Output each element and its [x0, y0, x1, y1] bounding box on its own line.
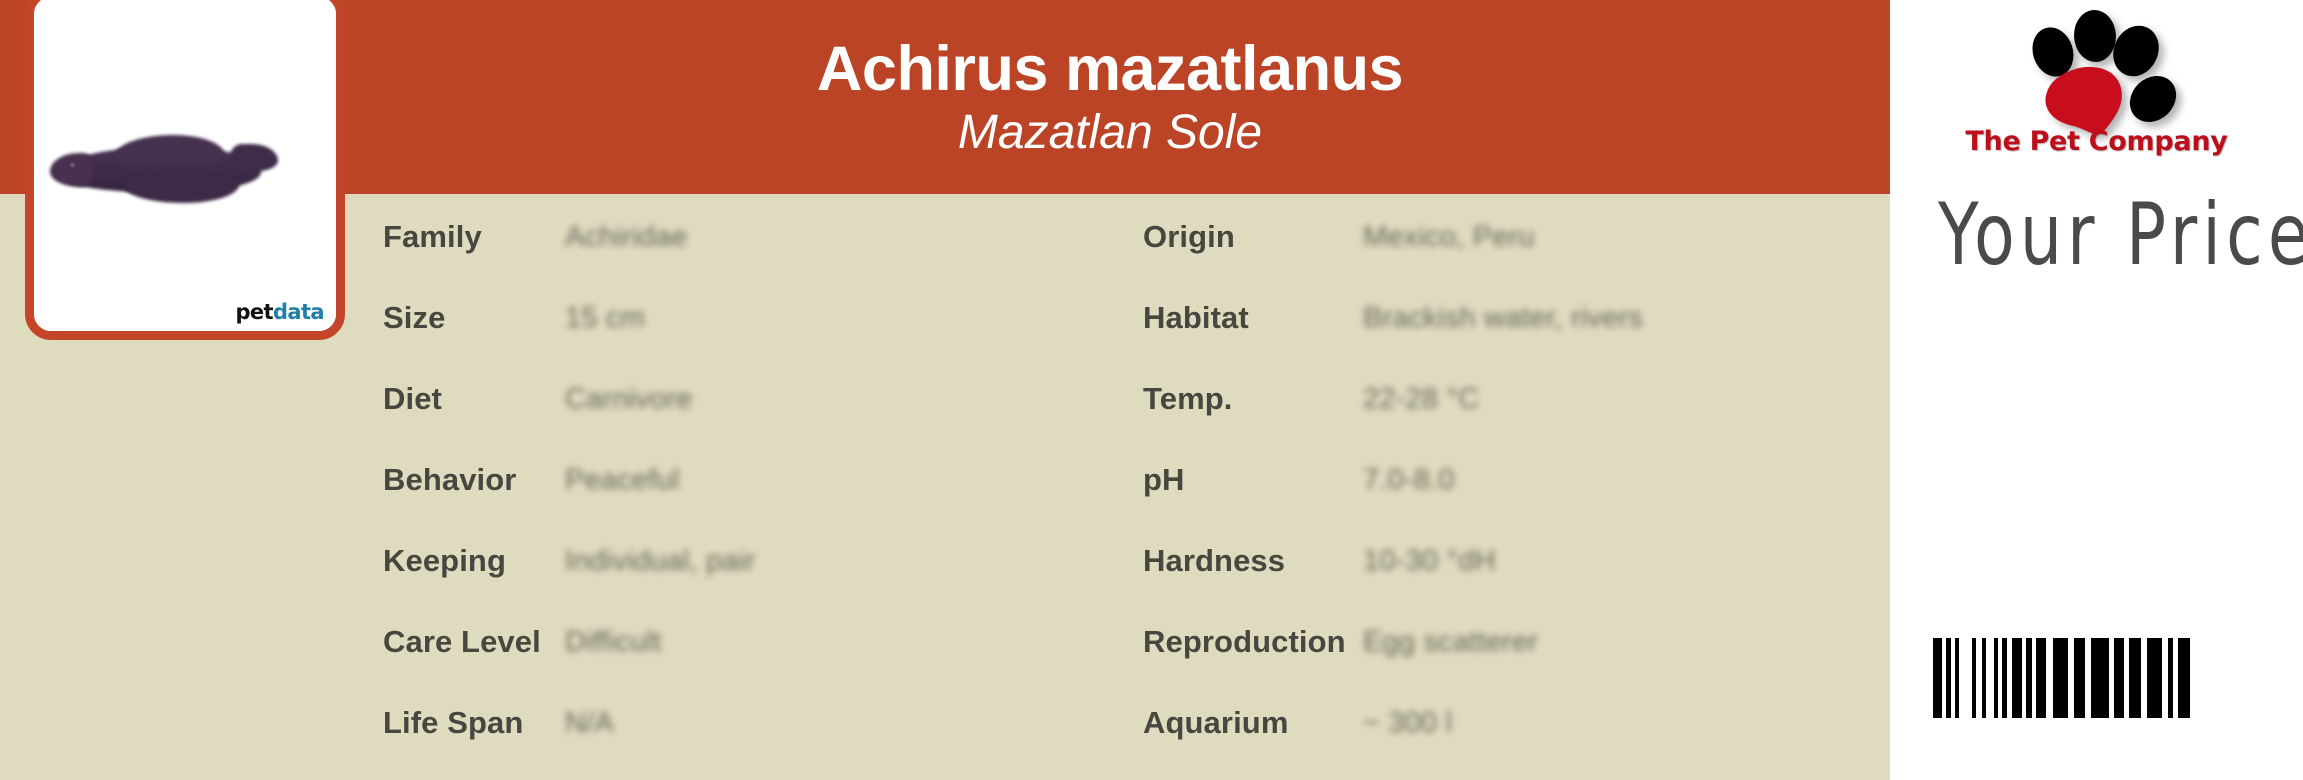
species-spec-grid: Family Achiridae Size 15 cm Diet Carnivo…	[0, 194, 1890, 780]
spec-label-ph: pH	[1143, 462, 1363, 498]
spec-row-reproduction: Reproduction Egg scatterer	[1143, 601, 1538, 683]
spec-value-size: 15 cm	[565, 302, 645, 335]
species-info-panel: Achirus mazatlanus Mazatlan Sole petdata	[0, 0, 1890, 780]
spec-value-diet: Carnivore	[565, 383, 693, 416]
spec-row-family: Family Achiridae	[383, 196, 688, 278]
barcode-space	[1986, 638, 1994, 718]
fish-head-shape	[50, 153, 94, 187]
barcode-bar	[2053, 638, 2068, 718]
spec-label-hardness: Hardness	[1143, 543, 1363, 579]
spec-label-aquarium: Aquarium	[1143, 705, 1363, 741]
your-price-label: Your Price	[1938, 192, 2299, 278]
barcode-bar	[2178, 638, 2190, 718]
spec-row-diet: Diet Carnivore	[383, 358, 693, 440]
spec-row-aquarium: Aquarium ~ 300 l	[1143, 682, 1452, 764]
spec-label-temp: Temp.	[1143, 381, 1363, 417]
barcode	[1933, 638, 2190, 718]
spec-value-ph: 7.0-8.0	[1363, 464, 1455, 497]
pet-species-price-label: Achirus mazatlanus Mazatlan Sole petdata	[0, 0, 2303, 780]
fish-tail-shape	[230, 144, 278, 172]
barcode-space	[2046, 638, 2053, 718]
spec-row-temp: Temp. 22-28 °C	[1143, 358, 1479, 440]
fish-dorsal-shape	[114, 135, 224, 165]
spec-row-life-span: Life Span N/A	[383, 682, 614, 764]
spec-value-temp: 22-28 °C	[1363, 383, 1479, 416]
barcode-bar	[2074, 638, 2085, 718]
spec-value-family: Achiridae	[565, 221, 688, 254]
barcode-bar	[2129, 638, 2141, 718]
spec-row-origin: Origin Mexico, Peru	[1143, 196, 1535, 278]
spec-label-care-level: Care Level	[383, 624, 565, 660]
barcode-bar	[2091, 638, 2109, 718]
spec-value-reproduction: Egg scatterer	[1363, 626, 1538, 659]
brand-name-text: The Pet Company	[1947, 128, 2247, 155]
spec-row-keeping: Keeping Individual, pair	[383, 520, 755, 602]
spec-row-hardness: Hardness 10-30 °dH	[1143, 520, 1496, 602]
barcode-bar	[2012, 638, 2022, 718]
barcode-space	[1959, 638, 1972, 718]
spec-row-care-level: Care Level Difficult	[383, 601, 661, 683]
species-scientific-name: Achirus mazatlanus	[817, 38, 1403, 101]
spec-value-aquarium: ~ 300 l	[1363, 707, 1452, 740]
spec-label-life-span: Life Span	[383, 705, 565, 741]
spec-label-family: Family	[383, 219, 565, 255]
spec-label-diet: Diet	[383, 381, 565, 417]
spec-value-behavior: Peaceful	[565, 464, 679, 497]
spec-label-behavior: Behavior	[383, 462, 565, 498]
brand-logo: The Pet Company	[1947, 8, 2247, 198]
spec-value-habitat: Brackish water, rivers	[1363, 302, 1643, 335]
spec-label-habitat: Habitat	[1143, 300, 1363, 336]
spec-row-habitat: Habitat Brackish water, rivers	[1143, 277, 1643, 359]
barcode-bar	[2147, 638, 2162, 718]
spec-value-life-span: N/A	[565, 707, 614, 740]
spec-value-hardness: 10-30 °dH	[1363, 545, 1496, 578]
spec-row-ph: pH 7.0-8.0	[1143, 439, 1455, 521]
spec-column-right: Origin Mexico, Peru Habitat Brackish wat…	[1143, 194, 1883, 780]
spec-row-size: Size 15 cm	[383, 277, 645, 359]
header-title-block: Achirus mazatlanus Mazatlan Sole	[330, 0, 1890, 194]
spec-value-care-level: Difficult	[565, 626, 661, 659]
spec-label-origin: Origin	[1143, 219, 1363, 255]
spec-value-origin: Mexico, Peru	[1363, 221, 1535, 254]
spec-label-size: Size	[383, 300, 565, 336]
spec-label-reproduction: Reproduction	[1143, 624, 1363, 660]
spec-label-keeping: Keeping	[383, 543, 565, 579]
barcode-bar	[2036, 638, 2046, 718]
spec-value-keeping: Individual, pair	[565, 545, 755, 578]
fish-eye-shape	[70, 163, 75, 167]
barcode-bar	[1933, 638, 1942, 718]
spec-column-left: Family Achiridae Size 15 cm Diet Carnivo…	[383, 194, 1143, 780]
barcode-bar	[2114, 638, 2124, 718]
price-panel: The Pet Company Your Price	[1890, 0, 2303, 780]
species-common-name: Mazatlan Sole	[958, 109, 1262, 157]
spec-row-behavior: Behavior Peaceful	[383, 439, 679, 521]
